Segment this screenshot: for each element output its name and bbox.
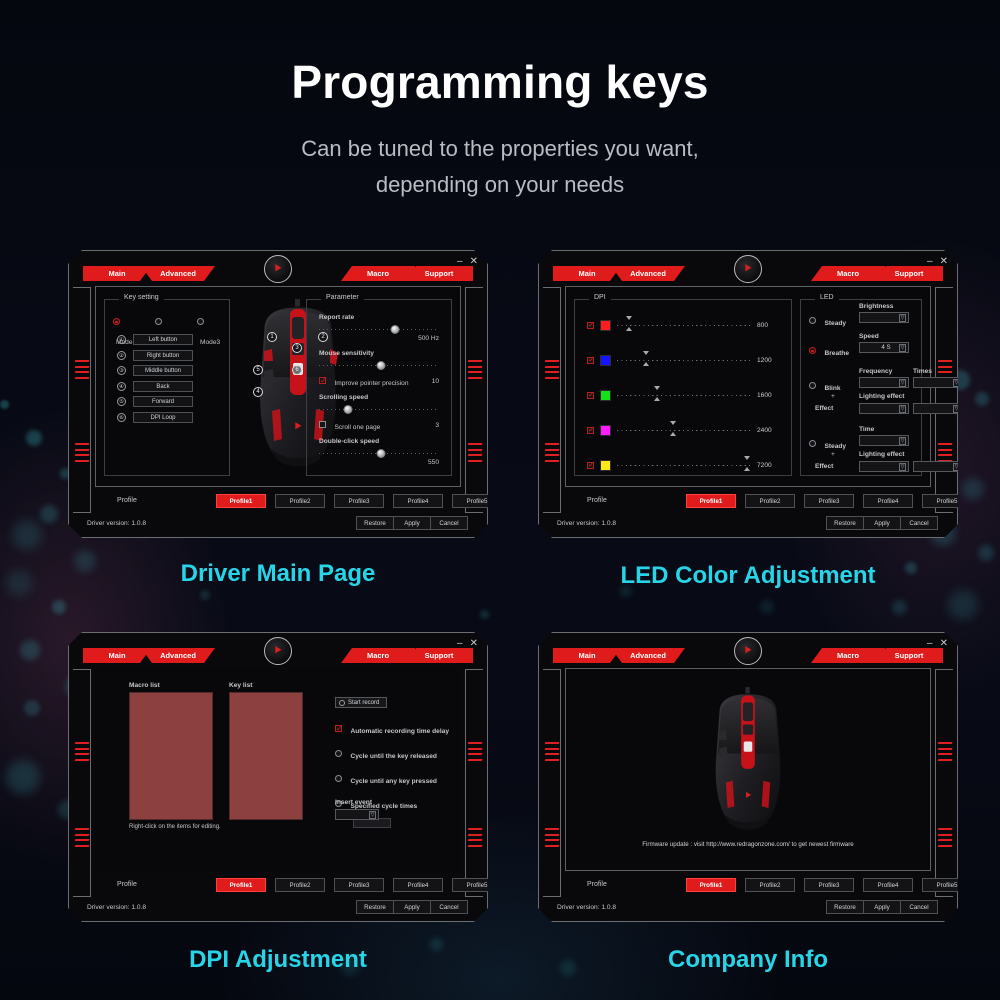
- group-dpi: DPI 800: [574, 299, 792, 476]
- dpi-value-4: 2400: [757, 427, 783, 434]
- key-index-4: ④: [117, 382, 126, 391]
- chevron-down-icon[interactable]: ▽: [899, 314, 906, 322]
- led-time-label: Time: [859, 426, 909, 433]
- double-click-speed-label: Double-click speed: [319, 438, 439, 445]
- driver-version-value-2: 1.0.8: [601, 520, 616, 527]
- key-row-6[interactable]: ⑥ DPI Loop: [117, 412, 193, 423]
- restore-button-1[interactable]: Restore: [356, 516, 394, 530]
- profile-button-2[interactable]: Profile2: [745, 878, 795, 892]
- led-effect-label-2: Effect: [815, 463, 833, 470]
- window-footer-2: Profile Profile1 Profile2 Profile3 Profi…: [541, 487, 955, 535]
- dpi-slider-1[interactable]: [617, 316, 751, 334]
- led-effect-combo-1a[interactable]: ▽: [859, 403, 909, 414]
- subtitle-line-1: Can be tuned to the properties you want,: [0, 131, 1000, 167]
- scroll-one-page-checkbox[interactable]: Scroll one page: [319, 416, 380, 434]
- action-buttons-2[interactable]: Restore Apply Cancel: [827, 516, 938, 530]
- tab-support[interactable]: Support: [875, 648, 943, 663]
- insert-event-label: Insert event: [335, 799, 372, 806]
- tab-macro[interactable]: Macro: [341, 648, 415, 663]
- dpi-enable-checkbox-1[interactable]: [587, 322, 594, 329]
- dpi-enable-checkbox-4[interactable]: [587, 427, 594, 434]
- panel-content-3: Macro list Key list Right-click on the i…: [95, 668, 461, 871]
- led-effect-combo-2a[interactable]: ▽: [859, 461, 909, 472]
- led-frequency-label: Frequency: [859, 368, 909, 375]
- key-row-3[interactable]: ③ Middle button: [117, 365, 193, 376]
- action-buttons-4[interactable]: Restore Apply Cancel: [827, 900, 938, 914]
- led-brightness-field: Brightness ▽: [859, 303, 909, 323]
- mouse-marker-3: 3: [292, 343, 302, 353]
- tab-support[interactable]: Support: [405, 266, 473, 281]
- driver-version-1: Driver version: 1.0.8: [87, 520, 146, 527]
- mouse-sensitivity-slider[interactable]: [319, 361, 439, 370]
- led-blink-plus-sign: +: [831, 393, 835, 400]
- driver-version-4: Driver version: 1.0.8: [557, 904, 616, 911]
- profile-label-3: Profile: [117, 881, 137, 888]
- dpi-row-3[interactable]: 1600: [587, 384, 783, 406]
- profile-button-1[interactable]: Profile1: [216, 878, 266, 892]
- macro-list-label: Macro list: [129, 682, 160, 689]
- profile-button-5[interactable]: Profile5: [452, 878, 502, 892]
- profile-button-1[interactable]: Profile1: [686, 494, 736, 508]
- redragon-logo-icon: ⯈: [734, 255, 762, 283]
- profile-button-3[interactable]: Profile3: [334, 494, 384, 508]
- report-rate-value: 500 Hz: [319, 335, 439, 342]
- mouse-svg-large: ⯈: [700, 687, 796, 837]
- restore-button-4[interactable]: Restore: [826, 900, 864, 914]
- tab-support[interactable]: Support: [405, 648, 473, 663]
- key-row-2[interactable]: ② Right button: [117, 350, 193, 361]
- tab-main[interactable]: Main: [83, 266, 151, 281]
- cancel-button-1[interactable]: Cancel: [430, 516, 468, 530]
- profile-button-2[interactable]: Profile2: [275, 878, 325, 892]
- scrolling-speed-value: 3: [435, 422, 439, 429]
- redragon-logo-icon: ⯈: [734, 637, 762, 665]
- apply-button-4[interactable]: Apply: [863, 900, 901, 914]
- cancel-button-2[interactable]: Cancel: [900, 516, 938, 530]
- caption-driver-main-page: Driver Main Page: [68, 560, 488, 588]
- cycle-key-released-label: Cycle until the key released: [350, 753, 437, 760]
- led-mode-blink[interactable]: Blink: [809, 377, 841, 395]
- window-company-info[interactable]: – ✕ Main Advanced Macro Support ⯈: [538, 632, 958, 922]
- page-subtitle: Can be tuned to the properties you want,…: [0, 131, 1000, 204]
- key-button-forward[interactable]: Forward: [133, 396, 193, 407]
- key-index-1: ①: [117, 335, 126, 344]
- profile-button-1[interactable]: Profile1: [686, 878, 736, 892]
- window-driver-main-page[interactable]: – ✕ Main Advanced Macro Support ⯈: [68, 250, 488, 538]
- led-times-combo[interactable]: ▽: [913, 377, 963, 388]
- profile-buttons-2[interactable]: Profile1 Profile2 Profile3 Profile4 Prof…: [686, 494, 972, 508]
- led-speed-combo[interactable]: 4 S ▽: [859, 342, 909, 353]
- apply-button-1[interactable]: Apply: [393, 516, 431, 530]
- dpi-enable-checkbox-3[interactable]: [587, 392, 594, 399]
- tab-advanced[interactable]: Advanced: [141, 266, 215, 281]
- tab-macro[interactable]: Macro: [341, 266, 415, 281]
- led-mode-steady-1[interactable]: Steady: [809, 312, 846, 330]
- dpi-slider-4[interactable]: [617, 421, 751, 439]
- driver-version-label-1: Driver version:: [87, 520, 130, 527]
- start-record-button[interactable]: Start record: [335, 697, 387, 708]
- editing-hint: Right-click on the items for editing.: [129, 824, 221, 830]
- record-icon: [339, 700, 345, 706]
- driver-version-label-2: Driver version:: [557, 520, 600, 527]
- page-root: Programming keys Can be tuned to the pro…: [0, 0, 1000, 1000]
- tab-support[interactable]: Support: [875, 266, 943, 281]
- frame-decoration-left: [543, 669, 561, 897]
- dpi-row-list: 800 1200: [587, 314, 783, 476]
- led-lighting-effect-label-1: Lighting effect: [859, 393, 904, 400]
- window-footer-1: Profile Profile1 Profile2 Profile3 Profi…: [71, 487, 485, 535]
- action-buttons-1[interactable]: Restore Apply Cancel: [357, 516, 468, 530]
- profile-button-4[interactable]: Profile4: [393, 494, 443, 508]
- svg-text:⯈: ⯈: [744, 791, 753, 803]
- led-times-field: Times ▽: [913, 368, 963, 388]
- cancel-button-3[interactable]: Cancel: [430, 900, 468, 914]
- led-frequency-combo[interactable]: ▽: [859, 377, 909, 388]
- key-button-left[interactable]: Left button: [133, 334, 193, 345]
- led-time-field: Time ▽: [859, 426, 909, 446]
- key-index-3: ③: [117, 366, 126, 375]
- caption-company-info: Company Info: [538, 946, 958, 974]
- start-record-label: Start record: [348, 698, 379, 708]
- setting-scrolling-speed: Scrolling speed Scroll one page 3: [319, 394, 439, 434]
- window-dpi-adjustment[interactable]: – ✕ Main Advanced Macro Support ⯈: [68, 632, 488, 922]
- dpi-row-2[interactable]: 1200: [587, 349, 783, 371]
- led-effect-combo-2b[interactable]: ▽: [913, 461, 963, 472]
- mouse-marker-6: 6: [292, 365, 302, 375]
- chevron-down-icon[interactable]: ▽: [899, 437, 906, 445]
- apply-button-2[interactable]: Apply: [863, 516, 901, 530]
- profile-buttons-4[interactable]: Profile1 Profile2 Profile3 Profile4 Prof…: [686, 878, 972, 892]
- led-speed-label: Speed: [859, 333, 909, 340]
- option-cycle-any-key[interactable]: Cycle until any key pressed: [335, 770, 449, 788]
- profile-button-5[interactable]: Profile5: [922, 878, 972, 892]
- led-steady-label-1: Steady: [824, 320, 846, 327]
- profile-button-1[interactable]: Profile1: [216, 494, 266, 508]
- led-times-label: Times: [913, 368, 963, 375]
- caption-dpi-adjustment: DPI Adjustment: [68, 946, 488, 974]
- chevron-down-icon[interactable]: ▽: [899, 344, 906, 352]
- led-breathe-radio[interactable]: [809, 347, 816, 354]
- group-dpi-label: DPI: [589, 294, 611, 301]
- improve-pointer-precision-label: Improve pointer precision: [334, 380, 408, 387]
- led-brightness-combo[interactable]: ▽: [859, 312, 909, 323]
- led-speed-value: 4 S: [881, 344, 890, 351]
- mouse-illustration-large: ⯈: [700, 687, 796, 842]
- automatic-delay-checkbox[interactable]: [335, 725, 342, 732]
- tab-macro[interactable]: Macro: [811, 266, 885, 281]
- profile-button-2[interactable]: Profile2: [275, 494, 325, 508]
- dpi-color-swatch-2[interactable]: [600, 355, 611, 366]
- frame-decoration-left: [73, 287, 91, 513]
- led-mode-steady-2[interactable]: Steady: [809, 435, 846, 453]
- key-index-2: ②: [117, 351, 126, 360]
- key-row-4[interactable]: ④ Back: [117, 381, 193, 392]
- key-row-5[interactable]: ⑤ Forward: [117, 396, 193, 407]
- key-row-1[interactable]: ① Left button: [117, 334, 193, 345]
- profile-button-4[interactable]: Profile4: [863, 494, 913, 508]
- dpi-enable-checkbox-2[interactable]: [587, 357, 594, 364]
- scrolling-speed-slider[interactable]: [319, 405, 439, 414]
- radio-mode3-label: Mode3: [200, 339, 220, 346]
- led-blink-label: Blink: [824, 385, 840, 392]
- led-blink-radio[interactable]: [809, 382, 816, 389]
- radio-mode3[interactable]: Mode3: [197, 313, 229, 349]
- scroll-one-page-label: Scroll one page: [334, 424, 380, 431]
- automatic-delay-label: Automatic recording time delay: [350, 728, 449, 735]
- dpi-value-3: 1600: [757, 392, 783, 399]
- dpi-slider-2[interactable]: [617, 351, 751, 369]
- group-key-setting: Key setting Mode1 Mode2 Mode3 ① Left but…: [104, 299, 230, 476]
- action-buttons-3[interactable]: Restore Apply Cancel: [357, 900, 468, 914]
- led-speed-field: Speed 4 S ▽: [859, 333, 909, 353]
- group-parameter-label: Parameter: [321, 294, 364, 301]
- tab-advanced[interactable]: Advanced: [611, 648, 685, 663]
- window-led-color-adjustment[interactable]: – ✕ Main Advanced Macro Support ⯈: [538, 250, 958, 538]
- frame-decoration-right: [935, 287, 953, 513]
- led-effect-label-1: Effect: [815, 405, 833, 412]
- chevron-down-icon[interactable]: ▽: [953, 405, 960, 413]
- restore-button-3[interactable]: Restore: [356, 900, 394, 914]
- cycle-any-key-radio[interactable]: [335, 775, 342, 782]
- redragon-logo-icon: ⯈: [264, 255, 292, 283]
- double-click-speed-value: 550: [319, 459, 439, 466]
- svg-text:⯈: ⯈: [293, 419, 303, 434]
- led-time-combo[interactable]: ▽: [859, 435, 909, 446]
- chevron-down-icon[interactable]: ▽: [899, 405, 906, 413]
- key-list-label: Key list: [229, 682, 252, 689]
- driver-version-value-4: 1.0.8: [601, 904, 616, 911]
- dpi-color-swatch-3[interactable]: [600, 390, 611, 401]
- mouse-marker-4: 4: [253, 387, 263, 397]
- profile-button-2[interactable]: Profile2: [745, 494, 795, 508]
- improve-pointer-precision-checkbox[interactable]: Improve pointer precision: [319, 372, 409, 390]
- restore-button-2[interactable]: Restore: [826, 516, 864, 530]
- led-steady-radio-1[interactable]: [809, 317, 816, 324]
- led-mode-breathe[interactable]: Breathe: [809, 342, 849, 360]
- macro-list-box[interactable]: [129, 692, 213, 820]
- caption-led-color-adjustment: LED Color Adjustment: [538, 562, 958, 590]
- led-steady-label-2: Steady: [824, 443, 846, 450]
- tab-advanced[interactable]: Advanced: [611, 266, 685, 281]
- dpi-row-5[interactable]: 7200: [587, 454, 783, 476]
- window-footer-4: Profile Profile1 Profile2 Profile3 Profi…: [541, 871, 955, 919]
- key-index-5: ⑤: [117, 397, 126, 406]
- dpi-value-5: 7200: [757, 462, 783, 469]
- page-header: Programming keys Can be tuned to the pro…: [0, 0, 1000, 204]
- frame-decoration-left: [73, 669, 91, 897]
- panel-content-1: Key setting Mode1 Mode2 Mode3 ① Left but…: [95, 286, 461, 487]
- dpi-color-swatch-5[interactable]: [600, 460, 611, 471]
- double-click-speed-slider[interactable]: [319, 449, 439, 458]
- profile-label-4: Profile: [587, 881, 607, 888]
- key-index-6: ⑥: [117, 413, 126, 422]
- key-button-back[interactable]: Back: [133, 381, 193, 392]
- dpi-row-1[interactable]: 800: [587, 314, 783, 336]
- tab-main[interactable]: Main: [553, 648, 621, 663]
- profile-button-4[interactable]: Profile4: [393, 878, 443, 892]
- profile-buttons-1[interactable]: Profile1 Profile2 Profile3 Profile4 Prof…: [216, 494, 502, 508]
- group-key-setting-label: Key setting: [119, 294, 164, 301]
- panel-content-4: ⯈ Firmware update : visit http://www.red…: [565, 668, 931, 871]
- dpi-slider-5[interactable]: [617, 456, 751, 474]
- scrolling-speed-label: Scrolling speed: [319, 394, 439, 401]
- led-breathe-label: Breathe: [824, 350, 849, 357]
- option-automatic-delay[interactable]: Automatic recording time delay: [335, 720, 449, 738]
- driver-version-value-3: 1.0.8: [131, 904, 146, 911]
- redragon-logo-icon: ⯈: [264, 637, 292, 665]
- profile-button-5[interactable]: Profile5: [922, 494, 972, 508]
- apply-button-3[interactable]: Apply: [393, 900, 431, 914]
- tab-main[interactable]: Main: [553, 266, 621, 281]
- group-led: LED Steady Brightness ▽: [800, 299, 922, 476]
- profile-button-3[interactable]: Profile3: [804, 494, 854, 508]
- led-steady2-plus-sign: +: [831, 451, 835, 458]
- driver-version-label-3: Driver version:: [87, 904, 130, 911]
- key-button-dpi-loop[interactable]: DPI Loop: [133, 412, 193, 423]
- dpi-row-4[interactable]: 2400: [587, 419, 783, 441]
- dpi-color-swatch-4[interactable]: [600, 425, 611, 436]
- report-rate-label: Report rate: [319, 314, 439, 321]
- cancel-button-4[interactable]: Cancel: [900, 900, 938, 914]
- dpi-slider-3[interactable]: [617, 386, 751, 404]
- chevron-down-icon[interactable]: ▽: [953, 463, 960, 471]
- tab-advanced[interactable]: Advanced: [141, 648, 215, 663]
- chevron-down-icon[interactable]: ▽: [899, 463, 906, 471]
- frame-decoration-right: [465, 287, 483, 513]
- key-list-box[interactable]: [229, 692, 303, 820]
- cycle-any-key-label: Cycle until any key pressed: [350, 778, 437, 785]
- dpi-value-1: 800: [757, 322, 783, 329]
- tab-main[interactable]: Main: [83, 648, 151, 663]
- dpi-enable-checkbox-5[interactable]: [587, 462, 594, 469]
- chevron-down-icon[interactable]: ▽: [899, 379, 906, 387]
- page-title: Programming keys: [0, 55, 1000, 109]
- group-led-label: LED: [815, 294, 839, 301]
- led-lighting-effect-label-2: Lighting effect: [859, 451, 904, 458]
- firmware-update-text: Firmware update : visit http://www.redra…: [566, 841, 930, 848]
- led-frequency-field: Frequency ▽: [859, 368, 909, 388]
- profile-label-1: Profile: [117, 497, 137, 504]
- setting-double-click-speed: Double-click speed 550: [319, 438, 439, 466]
- dpi-color-swatch-1[interactable]: [600, 320, 611, 331]
- setting-report-rate: Report rate 500 Hz: [319, 314, 439, 342]
- profile-button-3[interactable]: Profile3: [804, 878, 854, 892]
- frame-decoration-left: [543, 287, 561, 513]
- profile-button-4[interactable]: Profile4: [863, 878, 913, 892]
- profile-button-3[interactable]: Profile3: [334, 878, 384, 892]
- key-button-middle[interactable]: Middle button: [133, 365, 193, 376]
- mouse-sensitivity-label: Mouse sensitivity: [319, 350, 439, 357]
- window-footer-3: Profile Profile1 Profile2 Profile3 Profi…: [71, 871, 485, 919]
- subtitle-line-2: depending on your needs: [0, 167, 1000, 203]
- driver-version-value-1: 1.0.8: [131, 520, 146, 527]
- mouse-sensitivity-value: 10: [432, 378, 439, 385]
- profile-label-2: Profile: [587, 497, 607, 504]
- dpi-value-2: 1200: [757, 357, 783, 364]
- led-steady-radio-2[interactable]: [809, 440, 816, 447]
- key-button-right[interactable]: Right button: [133, 350, 193, 361]
- driver-version-2: Driver version: 1.0.8: [557, 520, 616, 527]
- cycle-key-released-radio[interactable]: [335, 750, 342, 757]
- driver-version-3: Driver version: 1.0.8: [87, 904, 146, 911]
- mouse-marker-1: 1: [267, 332, 277, 342]
- frame-decoration-right: [465, 669, 483, 897]
- led-brightness-label: Brightness: [859, 303, 909, 310]
- driver-version-label-4: Driver version:: [557, 904, 600, 911]
- profile-buttons-3[interactable]: Profile1 Profile2 Profile3 Profile4 Prof…: [216, 878, 502, 892]
- tab-macro[interactable]: Macro: [811, 648, 885, 663]
- led-effect-combo-1b[interactable]: ▽: [913, 403, 963, 414]
- panel-content-2: DPI 800: [565, 286, 931, 487]
- key-button-list: ① Left button ② Right button ③ Middle bu…: [117, 334, 193, 428]
- mouse-marker-5: 5: [253, 365, 263, 375]
- chevron-down-icon[interactable]: ▽: [953, 379, 960, 387]
- setting-mouse-sensitivity: Mouse sensitivity Improve pointer precis…: [319, 350, 439, 390]
- group-parameter: Parameter Report rate 500 Hz Mouse sensi…: [306, 299, 452, 476]
- frame-decoration-right: [935, 669, 953, 897]
- report-rate-slider[interactable]: [319, 325, 439, 334]
- profile-button-5[interactable]: Profile5: [452, 494, 502, 508]
- option-cycle-key-released[interactable]: Cycle until the key released: [335, 745, 449, 763]
- chevron-down-icon[interactable]: ▽: [369, 811, 376, 819]
- insert-event-combo[interactable]: ▽: [335, 809, 379, 820]
